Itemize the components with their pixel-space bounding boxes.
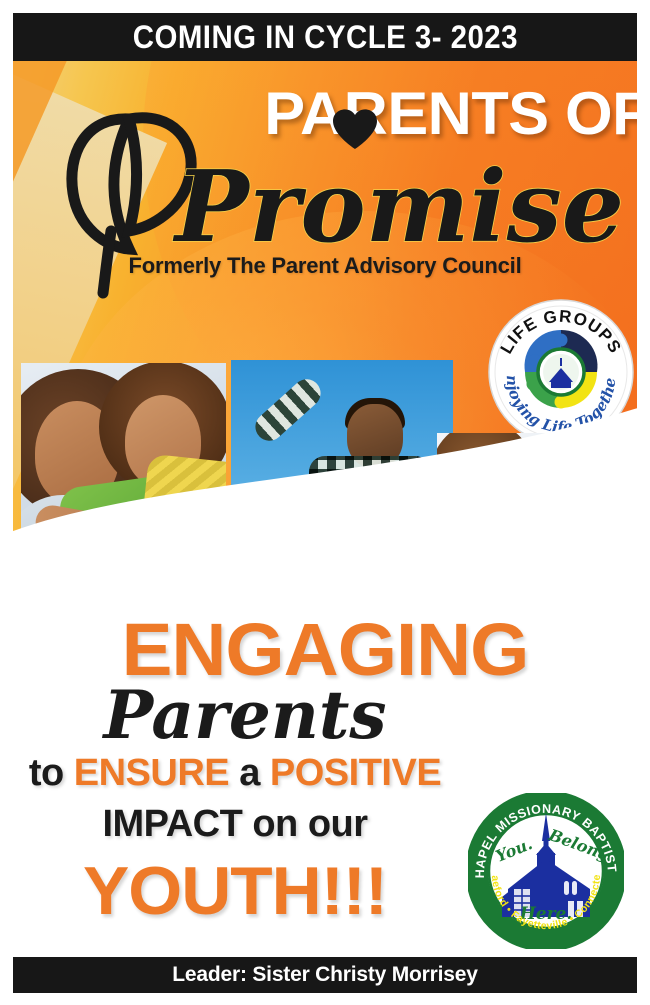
text-ensure: ENSURE (74, 752, 229, 794)
photo-mother-and-daughter (21, 363, 226, 585)
text-to: to (29, 752, 74, 794)
message-line-youth: YOUTH!!! (0, 852, 475, 930)
footer-text: Leader: Sister Christy Morrisey (172, 963, 477, 987)
photo-strip (13, 355, 637, 605)
top-banner: COMING IN CYCLE 3- 2023 (13, 13, 637, 61)
heart-icon (333, 109, 377, 149)
photo-family-group (437, 433, 637, 605)
parents-script-text: Parents (101, 676, 386, 754)
text-positive: POSITIVE (270, 752, 441, 794)
banner-text: COMING IN CYCLE 3- 2023 (132, 19, 517, 56)
church-seal-logo: You. Belong. Here. LEWIS CHAPEL MISSIONA… (468, 793, 624, 949)
message-line-impact: IMPACT on our (0, 803, 470, 846)
footer-bar: Leader: Sister Christy Morrisey (13, 957, 637, 993)
message-line-parents-script: Parents (95, 672, 395, 756)
message-line-ensure: to ENSURE a POSITIVE (0, 752, 470, 795)
photo-father-and-son (231, 360, 453, 598)
promise-script-text: Promise (172, 150, 624, 265)
promise-swash (72, 119, 129, 249)
text-a: a (229, 752, 270, 794)
flyer-poster: COMING IN CYCLE 3- 2023 PARENTS OF Promi… (0, 0, 650, 1005)
hero-subtitle: Formerly The Parent Advisory Council (13, 253, 637, 279)
